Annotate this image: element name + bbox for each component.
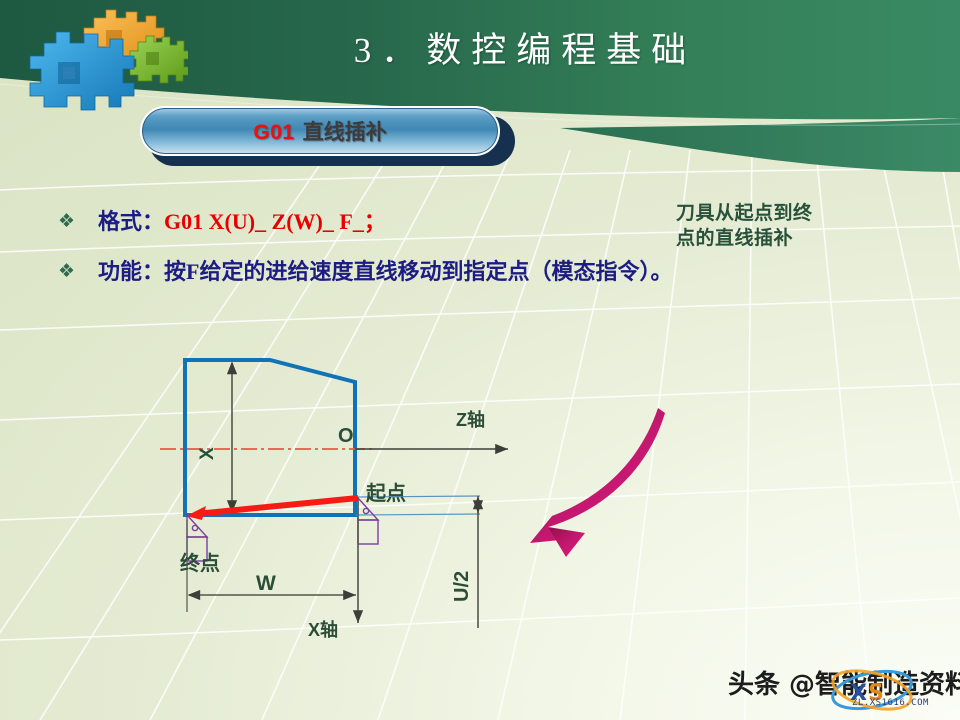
callout-curved-arrow <box>530 408 665 557</box>
banner-pill[interactable]: G01直线插补 <box>140 106 500 156</box>
callout-note: 刀具从起点到终 点的直线插补 <box>676 201 876 251</box>
page-title: 3．数控编程基础 <box>0 22 960 73</box>
watermark: 头条 @智能制造资料网 X S ZL.XS1616.COM <box>700 664 960 716</box>
label-end-point: 终点 <box>180 551 220 575</box>
label-z-axis: Z轴 <box>456 409 485 430</box>
workpiece-outline <box>185 360 355 515</box>
label-w-dimension: W <box>256 572 276 595</box>
bullet-label: 格式： <box>98 209 164 234</box>
bullet-code: G01 X(U)_ Z(W)_ F_； <box>164 209 386 234</box>
banner-code: G01 <box>253 121 294 144</box>
banner-text: G01直线插补 <box>253 116 386 146</box>
bullet-label: 功能： <box>98 259 164 284</box>
callout-note-line1: 刀具从起点到终 <box>676 201 876 226</box>
bullet-content: 功能：按F给定的进给速度直线移动到指定点（模态指令）。 <box>98 258 672 286</box>
callout-note-line2: 点的直线插补 <box>676 226 876 251</box>
label-start-point: 起点 <box>365 482 406 505</box>
projection-line-upper <box>356 514 480 515</box>
diamond-bullet-icon: ❖ <box>58 258 98 284</box>
technical-diagram: O Z轴 X轴 X W U/2 起点 终点 <box>0 330 960 670</box>
bullet-content: 格式：G01 X(U)_ Z(W)_ F_； <box>98 208 386 236</box>
list-item: ❖ 功能：按F给定的进给速度直线移动到指定点（模态指令）。 <box>58 258 918 286</box>
banner-label: 直线插补 <box>303 120 387 144</box>
label-u-dimension: U/2 <box>451 571 473 602</box>
label-x-dimension: X <box>197 447 218 460</box>
slide: 3．数控编程基础 G01直线插补 ❖ 格式：G01 X(U)_ Z(W)_ F_… <box>0 0 960 720</box>
feed-path-line <box>196 498 358 514</box>
section-banner[interactable]: G01直线插补 <box>140 106 518 168</box>
label-x-axis: X轴 <box>308 619 338 640</box>
diamond-bullet-icon: ❖ <box>58 208 98 234</box>
bullet-text: 按F给定的进给速度直线移动到指定点（模态指令）。 <box>164 259 672 284</box>
watermark-url: ZL.XS1616.COM <box>852 698 929 708</box>
label-origin: O <box>338 425 354 447</box>
